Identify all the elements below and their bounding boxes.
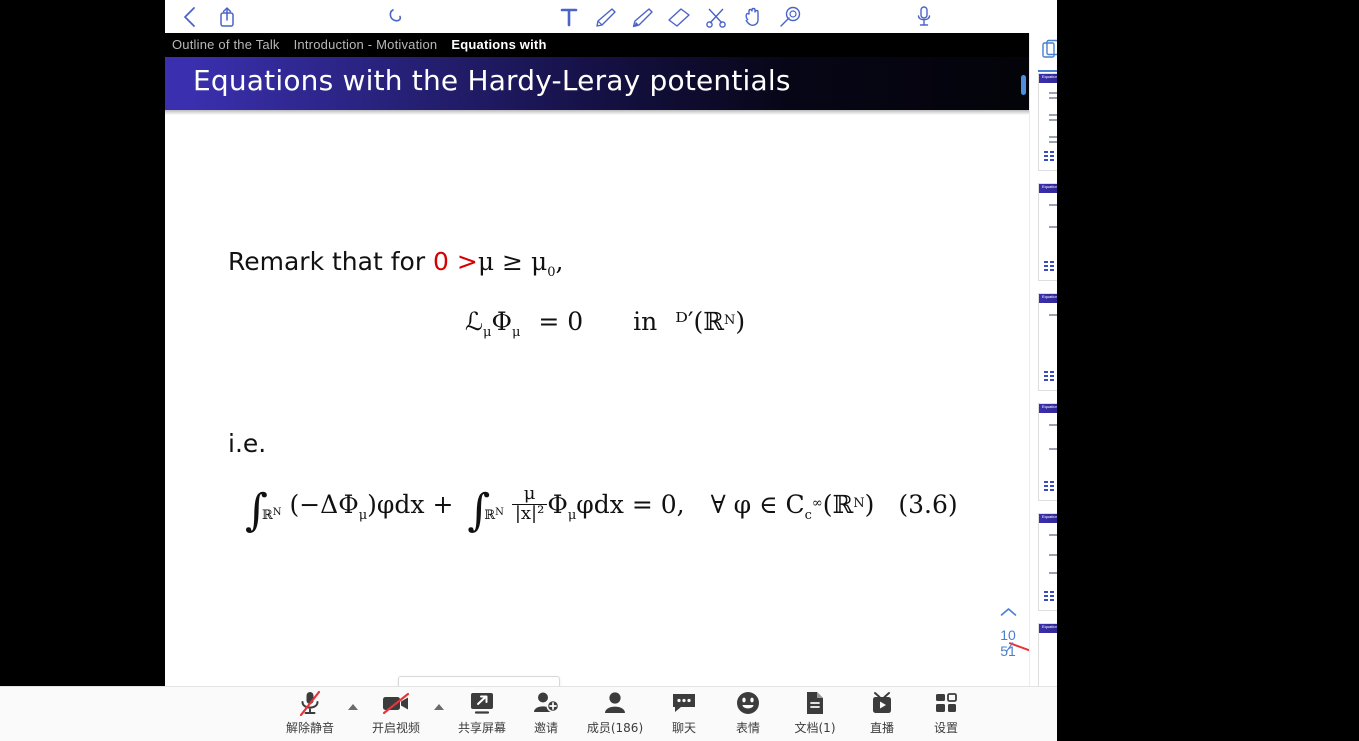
text-tool-icon[interactable] (555, 0, 583, 33)
eraser-tool-icon[interactable] (665, 0, 693, 33)
screen-root: Outline of the TalkIntroduction - Motiva… (0, 0, 1359, 740)
participants-icon (602, 690, 628, 717)
letterbox-left (0, 0, 165, 686)
start-video-label: 开启视频 (372, 719, 420, 736)
distribution-space: ᴰ′(ℝ (675, 307, 724, 336)
forall-test-function: ∀ φ ∈ C (711, 490, 805, 519)
laplacian-subscript: μ (359, 508, 367, 523)
unmute-button[interactable]: 解除静音 (278, 686, 342, 740)
chat-bubble-icon (671, 690, 697, 717)
microphone-icon[interactable] (910, 0, 938, 33)
c-superscript: ∞ (812, 496, 823, 511)
in-keyword: in (633, 307, 657, 336)
participants-button[interactable]: 成员(186) (578, 686, 652, 740)
hand-tool-icon[interactable] (739, 0, 767, 33)
test-domain-close: ) (865, 490, 875, 519)
start-video-button[interactable]: 开启视频 (364, 686, 428, 740)
document-icon (804, 690, 826, 717)
live-label: 直播 (870, 719, 894, 736)
reactions-label: 表情 (736, 719, 760, 736)
share-screen-label: 共享屏幕 (458, 719, 506, 736)
reactions-button[interactable]: 表情 (716, 686, 780, 740)
live-broadcast-icon (869, 690, 895, 717)
laplacian-term: (−ΔΦ (289, 490, 358, 519)
equation-3-6: ∫ℝN (−ΔΦμ)φdx + ∫ℝN μ|x|²Φμφdx = 0, ∀ φ … (245, 485, 958, 536)
scissors-tool-icon[interactable] (702, 0, 730, 33)
test-domain: (ℝ (823, 490, 854, 519)
distribution-space-exponent: N (724, 313, 735, 328)
share-icon[interactable] (212, 0, 242, 33)
integral-2-domain-exponent: N (495, 507, 504, 518)
distribution-space-close: ) (735, 307, 745, 336)
tab-equations-with[interactable]: Equations with (444, 33, 553, 57)
microphone-muted-icon (297, 690, 323, 717)
settings-grid-icon (933, 690, 959, 717)
documents-button[interactable]: 文档(1) (780, 686, 850, 740)
highlighter-tool-icon[interactable] (628, 0, 656, 33)
phi-symbol: Φ (491, 307, 512, 336)
integral-1-domain-exponent: N (273, 507, 282, 518)
slide-canvas[interactable]: Equations with the Hardy-Leray potential… (165, 57, 1029, 686)
video-options-caret[interactable] (428, 686, 450, 740)
c-subscript: c (805, 508, 812, 523)
share-screen-button[interactable]: 共享屏幕 (450, 686, 514, 740)
reader-toolbar (165, 0, 1189, 33)
phi-term-2-tail: φdx = 0, (576, 490, 684, 519)
participants-label: 成员(186) (587, 719, 643, 736)
document-tab-strip: Outline of the TalkIntroduction - Motiva… (165, 33, 1029, 57)
settings-button[interactable]: 设置 (914, 686, 978, 740)
video-participant-strip[interactable]: 周风的屏幕共享 数信院 (1057, 0, 1359, 740)
pen-tool-icon[interactable] (591, 0, 619, 33)
chevron-up-icon (348, 704, 358, 710)
stamp-tool-icon[interactable] (776, 0, 804, 33)
chat-button[interactable]: 聊天 (652, 686, 716, 740)
reader-vertical-scrollbar[interactable] (1021, 75, 1026, 95)
undo-icon[interactable] (382, 0, 412, 33)
unmute-label: 解除静音 (286, 719, 334, 736)
integral-2-domain: ℝ (484, 508, 495, 523)
camera-muted-icon (381, 690, 411, 717)
tab-outline-of-the-talk[interactable]: Outline of the Talk (165, 33, 287, 57)
audio-options-caret[interactable] (342, 686, 364, 740)
invite-label: 邀请 (534, 719, 558, 736)
remark-line: Remark that for 0 >μ ≥ μ0, (228, 247, 563, 280)
page-navigator[interactable]: 10 / 51 (990, 604, 1026, 686)
tab-introduction-motivation[interactable]: Introduction - Motivation (287, 33, 445, 57)
remark-prefix: Remark that for (228, 247, 433, 276)
documents-label: 文档(1) (795, 719, 836, 736)
page-title: Equations with the Hardy-Leray potential… (193, 64, 791, 97)
equals-zero: = 0 (538, 307, 583, 336)
fraction-mu-over-x-squared: μ|x|² (512, 485, 548, 524)
slide-body: Remark that for 0 >μ ≥ μ0, ℒμΦμ = 0 in ᴰ… (165, 115, 1029, 686)
test-domain-exponent: N (853, 496, 864, 511)
remark-comma: , (555, 247, 563, 276)
ie-label: i.e. (228, 429, 266, 458)
fraction-denominator: |x|² (512, 504, 548, 524)
smiley-icon (735, 690, 761, 717)
meeting-toolbar: 解除静音 开启视频 共享屏幕 邀请 成员(186) (0, 686, 1057, 740)
phi-subscript: μ (512, 325, 520, 340)
screen-share-icon (468, 690, 496, 717)
fraction-numerator: μ (512, 485, 548, 504)
equation-Lmu-Phimu: ℒμΦμ = 0 in ᴰ′(ℝN) (465, 307, 745, 340)
settings-label: 设置 (934, 719, 958, 736)
invite-button[interactable]: 邀请 (514, 686, 578, 740)
remark-tail: μ ≥ μ (478, 247, 547, 276)
chevron-up-icon[interactable] (1000, 604, 1017, 620)
equation-number: (3.6) (898, 490, 957, 519)
live-button[interactable]: 直播 (850, 686, 914, 740)
laplacian-tail: )φdx + (367, 490, 453, 519)
invite-person-icon (532, 690, 560, 717)
back-chevron-icon[interactable] (175, 0, 205, 33)
remark-red-part: 0 > (433, 247, 478, 276)
chat-label: 聊天 (672, 719, 696, 736)
integral-1-domain: ℝ (262, 508, 273, 523)
phi-term-2: Φ (547, 490, 568, 519)
audio-join-tooltip: 请选择会议音频接入方式 (398, 676, 560, 686)
operator-L: ℒ (465, 307, 483, 336)
chevron-up-icon (434, 704, 444, 710)
